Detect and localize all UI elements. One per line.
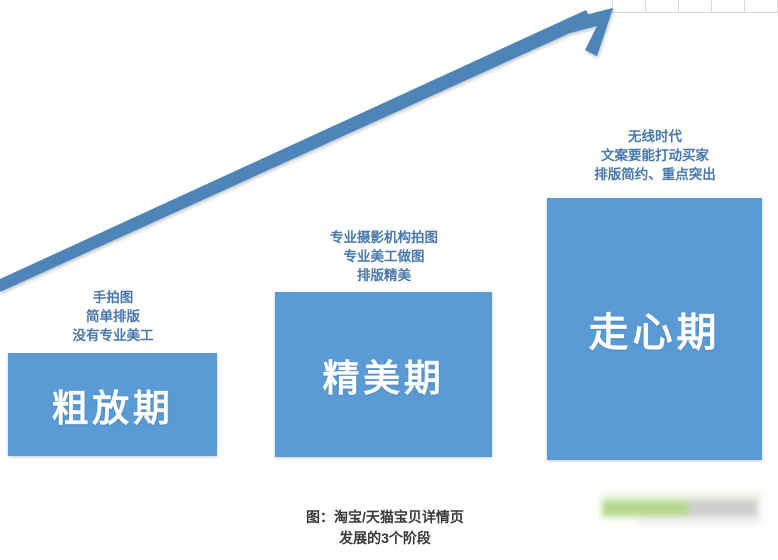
blurred-watermark [602, 492, 760, 522]
figure-caption-line-1: 图：淘宝/天猫宝贝详情页 [279, 507, 491, 528]
stage-1-description: 手拍图 简单排版 没有专业美工 [28, 288, 198, 345]
grid-cell [712, 0, 745, 12]
stage-1-desc-line-1: 手拍图 [28, 288, 198, 307]
stage-3-description: 无线时代 文案要能打动买家 排版简约、重点突出 [568, 127, 742, 184]
grid-cell [679, 0, 712, 12]
stage-1-title: 粗放期 [51, 378, 173, 432]
stage-3-bar: 走心期 [547, 198, 762, 460]
figure-canvas: 手拍图 简单排版 没有专业美工 粗放期 专业摄影机构拍图 专业美工做图 排版精美… [0, 0, 778, 560]
watermark-pale-band-2 [636, 516, 762, 524]
stage-1-bar: 粗放期 [8, 353, 217, 456]
table-grid-artifact [612, 0, 778, 13]
figure-caption-line-2: 发展的3个阶段 [279, 528, 491, 549]
figure-caption: 图：淘宝/天猫宝贝详情页 发展的3个阶段 [279, 507, 491, 549]
stage-1-desc-line-2: 简单排版 [28, 307, 198, 326]
stage-3-desc-line-3: 排版简约、重点突出 [568, 165, 742, 184]
stage-2-desc-line-3: 排版精美 [298, 266, 470, 285]
stage-2-description: 专业摄影机构拍图 专业美工做图 排版精美 [298, 228, 470, 285]
stage-3-desc-line-1: 无线时代 [568, 127, 742, 146]
stage-3-desc-line-2: 文案要能打动买家 [568, 146, 742, 165]
stage-3-title: 走心期 [589, 300, 721, 358]
grid-cell [745, 0, 777, 12]
stage-2-desc-line-2: 专业美工做图 [298, 247, 470, 266]
watermark-green-block [602, 500, 690, 517]
grid-cell [646, 0, 679, 12]
stage-2-bar: 精美期 [275, 292, 492, 457]
stage-2-title: 精美期 [322, 348, 444, 402]
watermark-gray-block [688, 500, 758, 517]
stage-2-desc-line-1: 专业摄影机构拍图 [298, 228, 470, 247]
grid-cell [613, 0, 646, 12]
stage-1-desc-line-3: 没有专业美工 [28, 326, 198, 345]
